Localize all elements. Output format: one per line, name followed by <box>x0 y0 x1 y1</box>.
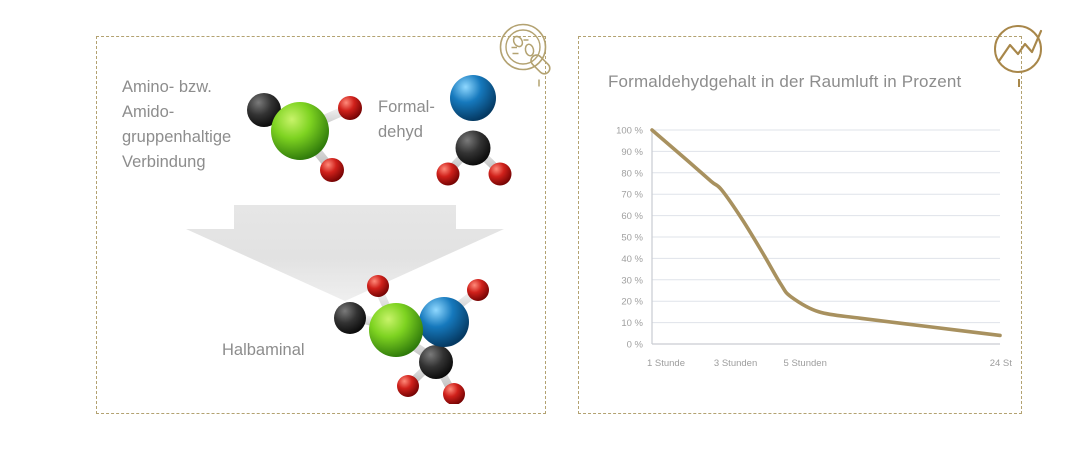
x-tick-label: 24 Stunden <box>990 358 1012 369</box>
y-tick-label: 20 % <box>621 297 643 308</box>
y-tick-label: 80 % <box>621 168 643 179</box>
chart-title: Formaldehydgehalt in der Raumluft in Pro… <box>608 72 961 92</box>
y-tick-label: 10 % <box>621 318 643 329</box>
trend-circle-icon <box>988 21 1052 91</box>
y-tick-label: 0 % <box>627 340 644 351</box>
chart-svg: 100 %90 %80 %70 %60 %50 %40 %30 %20 %10 … <box>600 118 1012 388</box>
chart-y-tick-labels: 100 %90 %80 %70 %60 %50 %40 %30 %20 %10 … <box>616 126 643 351</box>
amine-molecule <box>238 78 374 190</box>
line-chart: 100 %90 %80 %70 %60 %50 %40 %30 %20 %10 … <box>600 118 1012 388</box>
page-root: Amino- bzw. Amido- gruppenhaltige Verbin… <box>0 0 1080 462</box>
y-tick-label: 70 % <box>621 190 643 201</box>
magnifier-molecules-icon <box>497 21 561 91</box>
x-tick-label: 5 Stunden <box>784 358 827 369</box>
y-tick-label: 50 % <box>621 233 643 244</box>
x-tick-label: 3 Stunden <box>714 358 757 369</box>
chart-series-line <box>652 130 1000 335</box>
y-tick-label: 100 % <box>616 126 643 137</box>
y-tick-label: 30 % <box>621 275 643 286</box>
y-tick-label: 60 % <box>621 211 643 222</box>
y-tick-label: 90 % <box>621 147 643 158</box>
x-tick-label: 1 Stunde <box>647 358 685 369</box>
halbaminal-molecule <box>322 272 506 404</box>
chart-x-tick-labels: 1 Stunde3 Stunden5 Stunden24 Stunden <box>647 358 1012 369</box>
y-tick-label: 40 % <box>621 254 643 265</box>
